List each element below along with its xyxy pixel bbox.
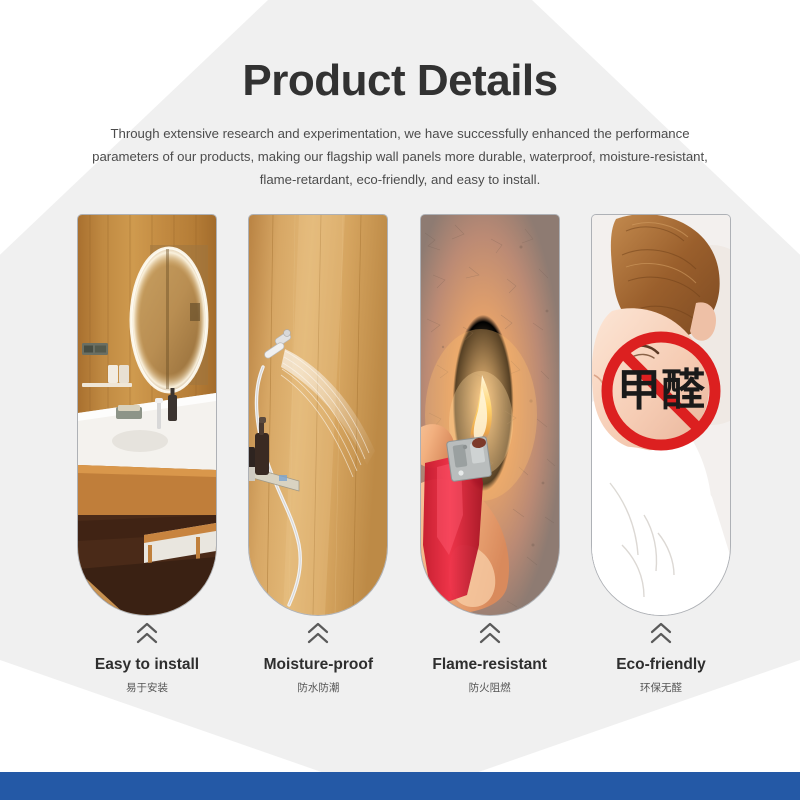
feature-label-en: Eco-friendly <box>592 656 730 674</box>
no-formaldehyde-baby-image: 甲醛 <box>592 215 730 615</box>
page-header: Product Details Through extensive resear… <box>0 0 800 191</box>
feature-label-en: Flame-resistant <box>421 656 559 674</box>
double-chevron-up-icon <box>478 622 502 644</box>
bathroom-image <box>78 215 216 615</box>
feature-label-flame-resistant: Flame-resistant 防火阻燃 <box>421 622 559 695</box>
feature-image-cards: 甲醛 <box>78 215 730 615</box>
bottom-blue-bar <box>0 772 800 800</box>
feature-label-zh: 易于安装 <box>78 682 216 695</box>
feature-label-en: Moisture-proof <box>249 656 387 674</box>
shower-image <box>249 215 387 615</box>
page-subtitle: Through extensive research and experimen… <box>88 108 713 191</box>
product-details-page: Product Details Through extensive resear… <box>0 0 800 800</box>
double-chevron-up-icon <box>135 622 159 644</box>
feature-label-moisture-proof: Moisture-proof 防水防潮 <box>249 622 387 695</box>
feature-label-eco-friendly: Eco-friendly 环保无醛 <box>592 622 730 695</box>
no-formaldehyde-text: 甲醛 <box>617 365 705 416</box>
double-chevron-up-icon <box>649 622 673 644</box>
feature-labels-row: Easy to install 易于安装 Moisture-proof 防水防潮… <box>78 622 730 695</box>
double-chevron-up-icon <box>306 622 330 644</box>
feature-card-easy-to-install[interactable] <box>78 215 216 615</box>
feature-card-moisture-proof[interactable] <box>249 215 387 615</box>
lighter-flame-image <box>421 215 559 615</box>
feature-card-flame-resistant[interactable] <box>421 215 559 615</box>
feature-card-eco-friendly[interactable]: 甲醛 <box>592 215 730 615</box>
feature-label-zh: 防水防潮 <box>249 682 387 695</box>
feature-label-zh: 防火阻燃 <box>421 682 559 695</box>
feature-label-easy-to-install: Easy to install 易于安装 <box>78 622 216 695</box>
feature-label-en: Easy to install <box>78 656 216 674</box>
feature-label-zh: 环保无醛 <box>592 682 730 695</box>
page-title: Product Details <box>0 0 800 108</box>
